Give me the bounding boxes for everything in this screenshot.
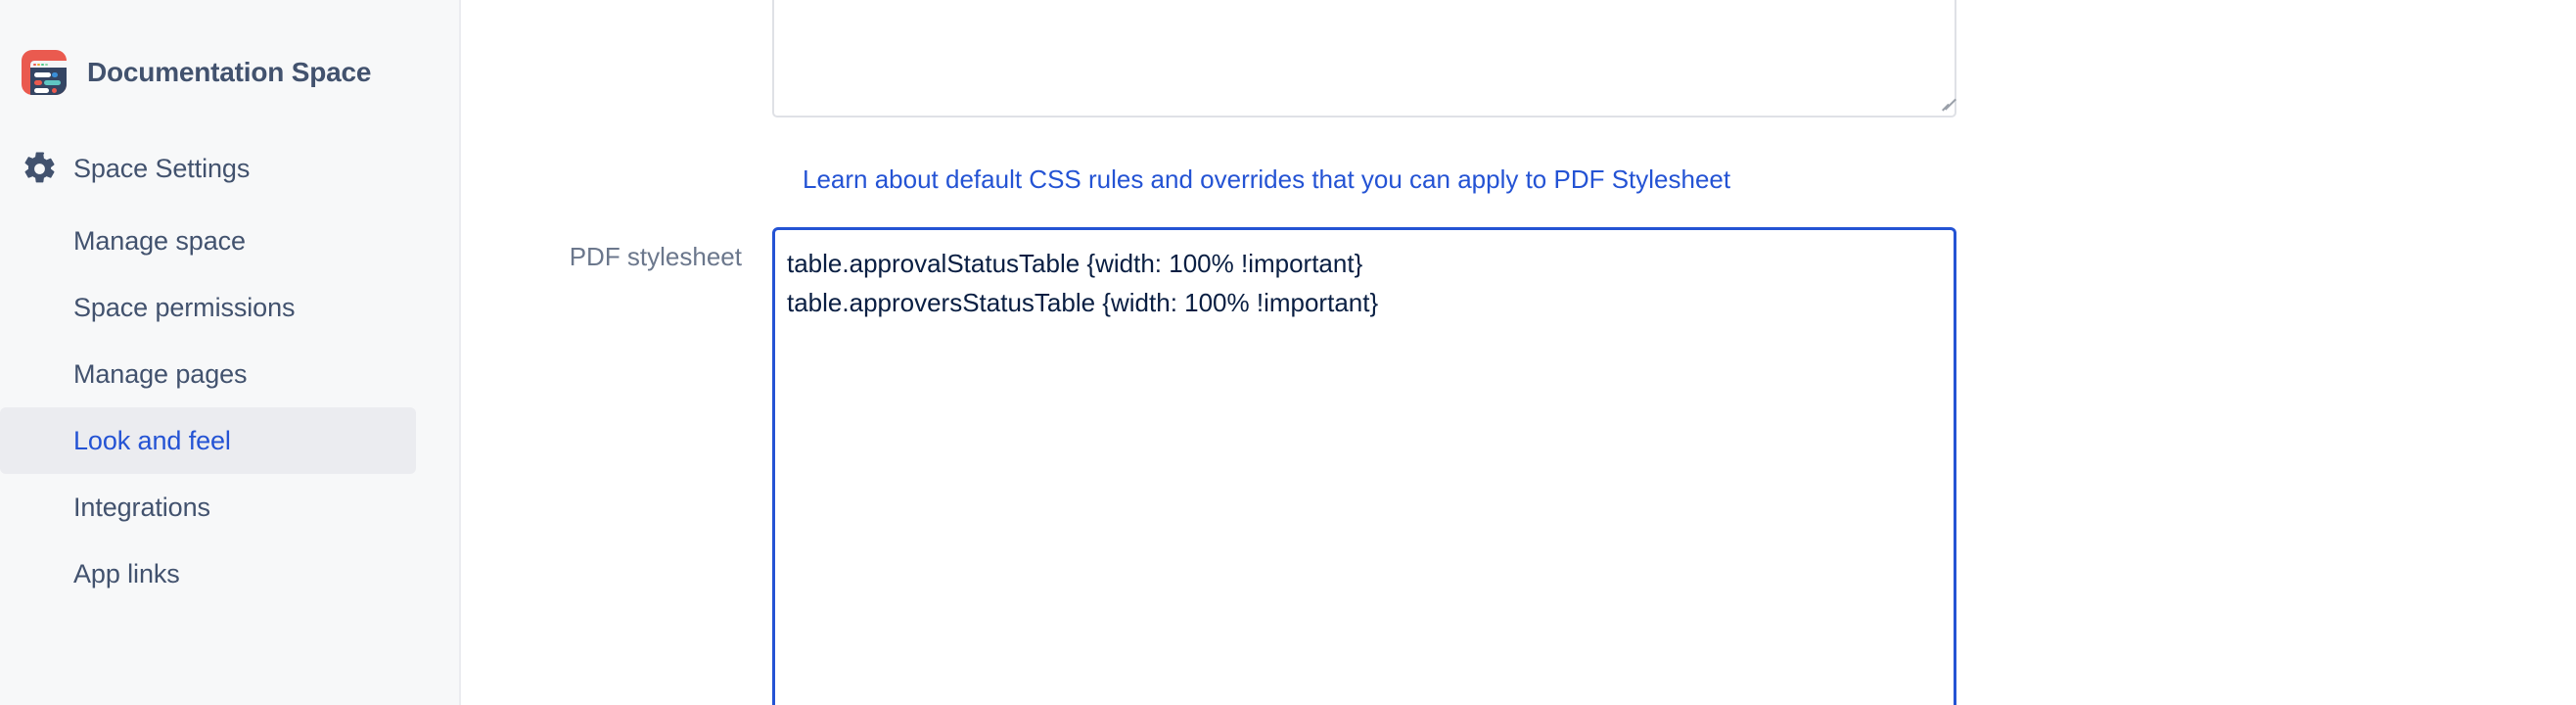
logo-text-line-3 xyxy=(44,80,61,85)
sidebar-item-label: App links xyxy=(73,559,180,589)
sidebar-item-integrations[interactable]: Integrations xyxy=(0,474,416,540)
sidebar-item-space-permissions[interactable]: Space permissions xyxy=(0,274,416,341)
sidebar-item-space-settings[interactable]: Space Settings xyxy=(0,135,416,202)
space-settings-nav: Space Settings Manage space Space permis… xyxy=(0,135,459,607)
sidebar-item-label: Manage space xyxy=(73,226,246,257)
pdf-stylesheet-label: PDF stylesheet xyxy=(461,227,772,274)
sidebar: Documentation Space Space Settings Manag… xyxy=(0,0,461,705)
main-content: Learn about default CSS rules and overri… xyxy=(461,0,2576,705)
sidebar-item-manage-pages[interactable]: Manage pages xyxy=(0,341,416,407)
top-textarea[interactable] xyxy=(772,0,1956,117)
pdf-stylesheet-row: PDF stylesheet table.approvalStatusTable… xyxy=(461,227,1956,705)
logo-window-shape xyxy=(30,61,67,95)
logo-window-titlebar xyxy=(30,61,67,68)
pdf-stylesheet-help-link[interactable]: Learn about default CSS rules and overri… xyxy=(803,164,1730,194)
sidebar-item-label: Integrations xyxy=(73,493,210,523)
logo-dot-green xyxy=(41,64,44,67)
logo-dot-teal xyxy=(45,64,48,67)
documentation-space-logo-icon xyxy=(22,50,67,95)
sidebar-item-app-links[interactable]: App links xyxy=(0,540,416,607)
sidebar-item-label: Space permissions xyxy=(73,293,295,323)
space-header[interactable]: Documentation Space xyxy=(0,37,459,108)
logo-text-line-4 xyxy=(34,88,49,93)
logo-dot-red xyxy=(33,64,36,67)
logo-dot-yellow xyxy=(37,64,40,67)
sidebar-item-look-and-feel[interactable]: Look and feel xyxy=(0,407,416,474)
help-link-row: Learn about default CSS rules and overri… xyxy=(803,164,1730,195)
app-root: Documentation Space Space Settings Manag… xyxy=(0,0,2576,705)
top-textarea-row xyxy=(461,0,1956,117)
space-title: Documentation Space xyxy=(87,57,371,88)
sidebar-item-manage-space[interactable]: Manage space xyxy=(0,208,416,274)
pdf-stylesheet-textarea[interactable]: table.approvalStatusTable {width: 100% !… xyxy=(772,227,1956,705)
logo-text-line-2 xyxy=(34,80,42,85)
sidebar-item-label: Manage pages xyxy=(73,359,247,390)
resize-handle-icon[interactable] xyxy=(1935,96,1952,113)
sidebar-item-label: Look and feel xyxy=(73,426,231,456)
sidebar-item-label: Space Settings xyxy=(73,154,250,184)
logo-text-line-1 xyxy=(34,72,51,77)
logo-accent-blue xyxy=(52,72,58,77)
logo-accent-red xyxy=(52,88,57,93)
pdf-stylesheet-value: table.approvalStatusTable {width: 100% !… xyxy=(775,230,1954,336)
gear-icon xyxy=(22,151,58,187)
